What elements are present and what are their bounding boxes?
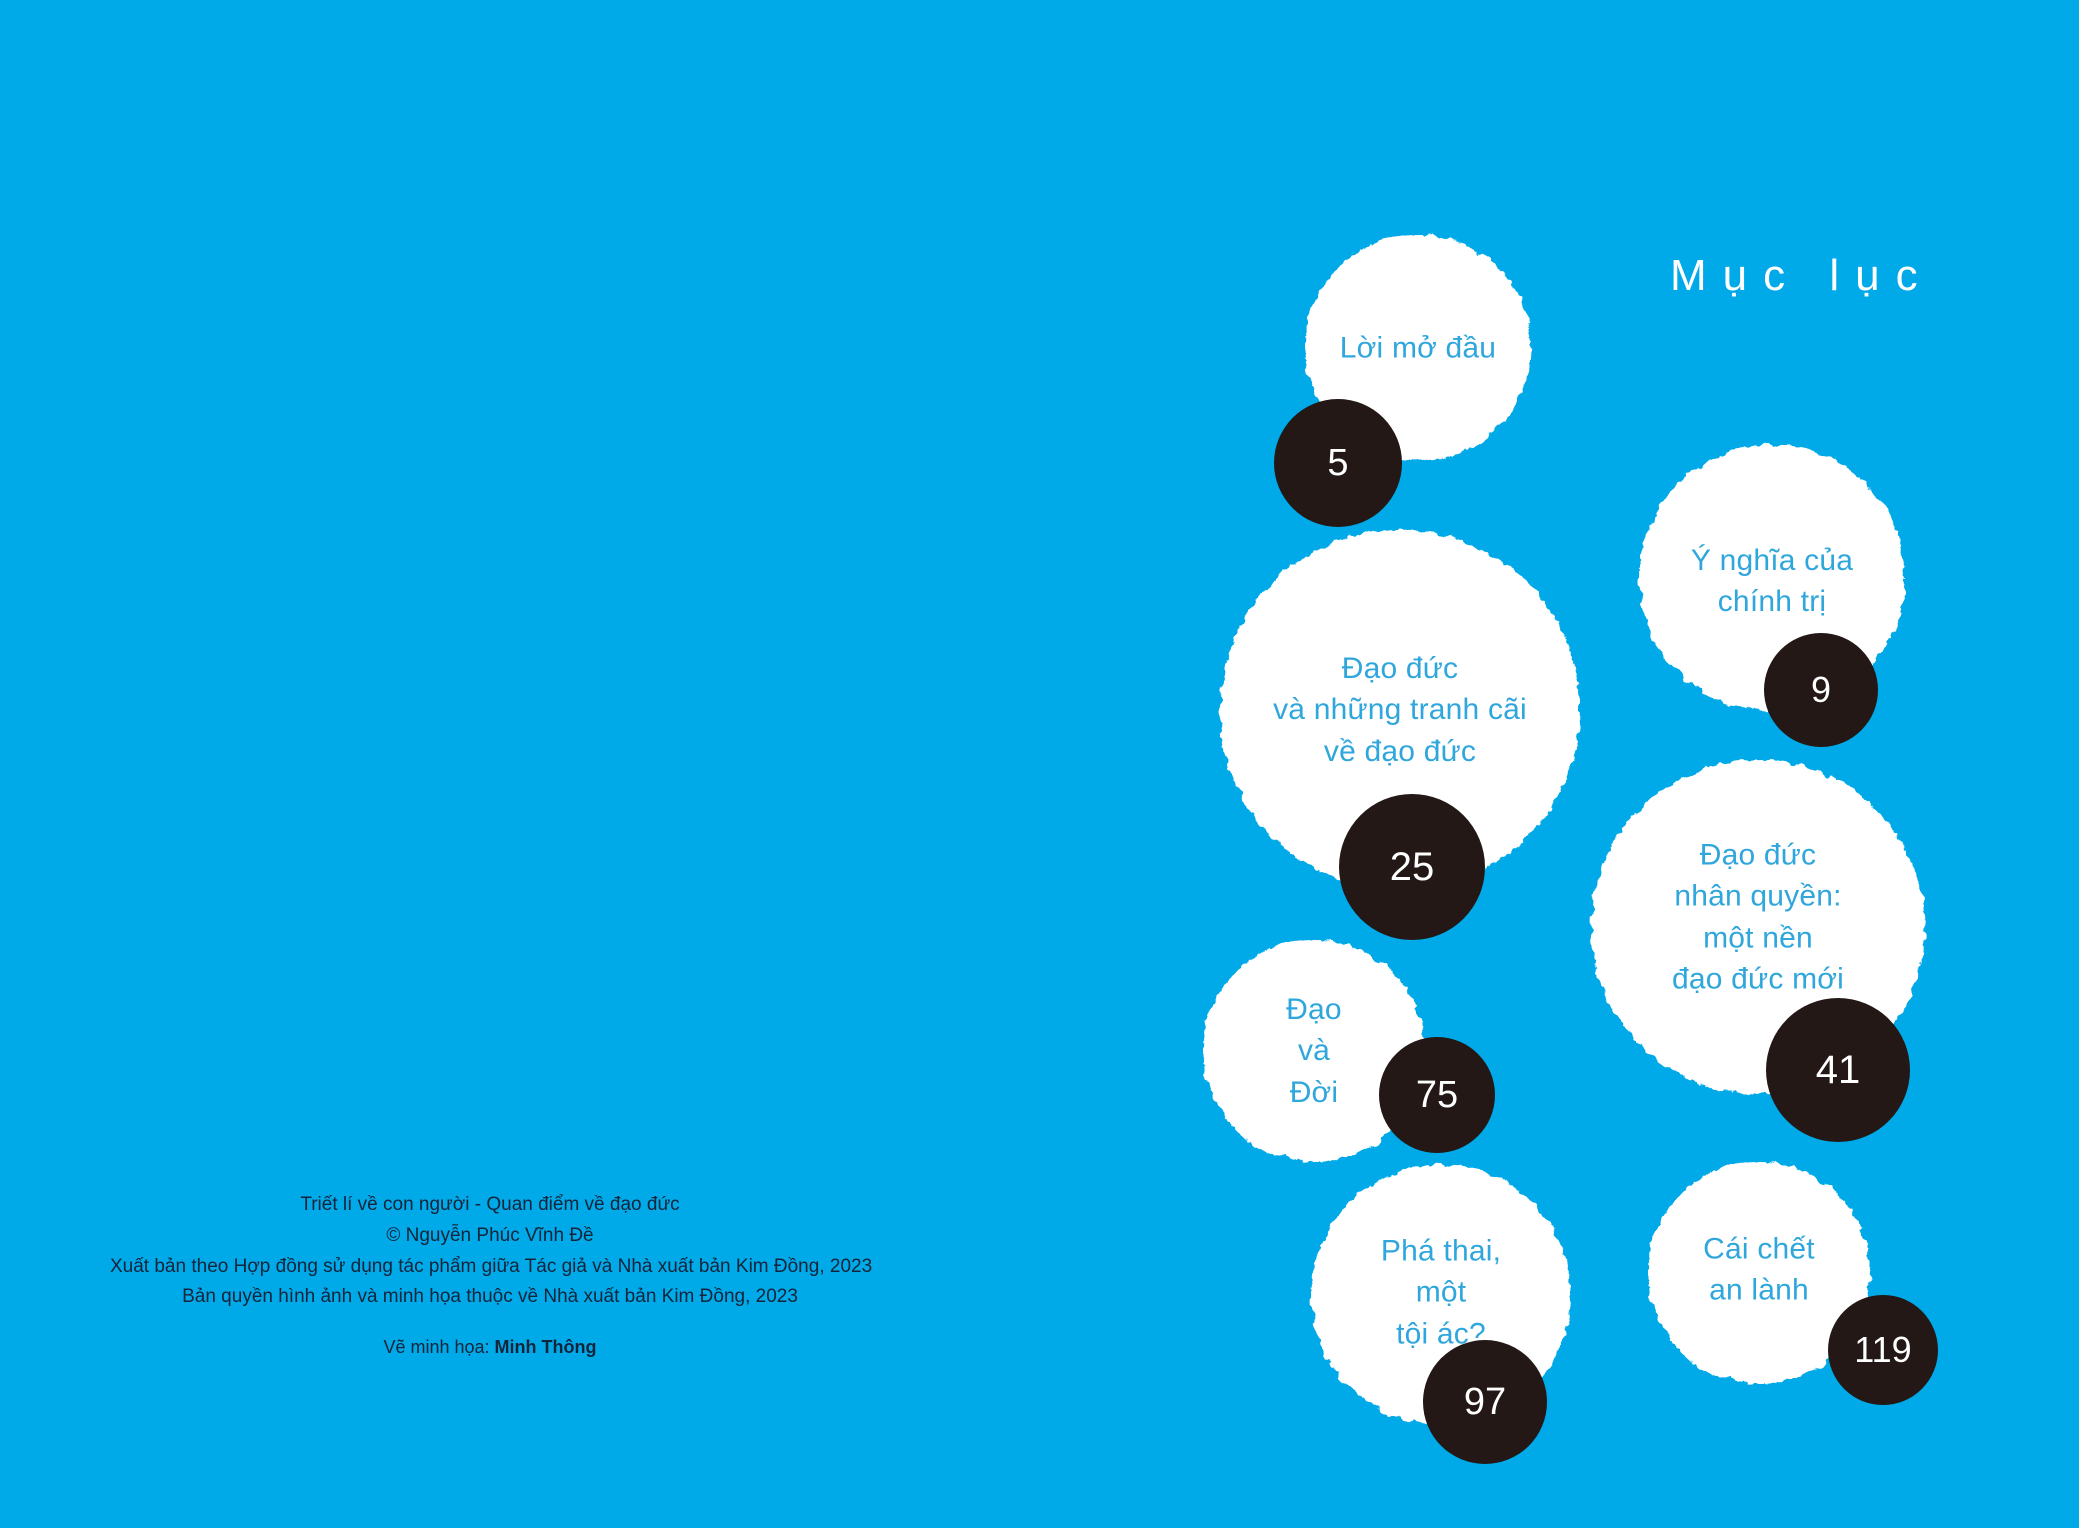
page-number-text: 97	[1464, 1381, 1506, 1424]
toc-page: Mục lục Lời mở đầu 5 Ý nghĩa của chính t…	[0, 0, 2079, 1528]
page-number-badge-97[interactable]: 97	[1423, 1340, 1547, 1464]
page-number-badge-9[interactable]: 9	[1764, 633, 1878, 747]
page-number-badge-75[interactable]: 75	[1379, 1037, 1495, 1153]
page-number-text: 25	[1390, 845, 1435, 890]
page-title: Mục lục	[1670, 254, 1934, 298]
colophon-illustrator-credit: Vẽ minh họa: Minh Thông	[110, 1333, 870, 1362]
page-number-badge-119[interactable]: 119	[1828, 1295, 1938, 1405]
page-number-text: 119	[1854, 1329, 1911, 1371]
page-number-badge-25[interactable]: 25	[1339, 794, 1485, 940]
page-number-badge-41[interactable]: 41	[1766, 998, 1910, 1142]
colophon-line-copyright: © Nguyễn Phúc Vĩnh Đề	[110, 1221, 870, 1252]
colophon-line-rights: Bản quyền hình ảnh và minh họa thuộc về …	[110, 1282, 870, 1313]
page-number-text: 41	[1816, 1048, 1861, 1093]
illustrator-credit-label: Vẽ minh họa:	[383, 1337, 494, 1357]
page-number-text: 5	[1327, 442, 1348, 485]
page-number-text: 9	[1811, 669, 1831, 711]
colophon: Triết lí về con người - Quan điểm về đạo…	[110, 1190, 870, 1362]
page-number-text: 75	[1416, 1074, 1458, 1117]
colophon-line-title: Triết lí về con người - Quan điểm về đạo…	[110, 1190, 870, 1221]
illustrator-name: Minh Thông	[495, 1337, 597, 1357]
colophon-line-publisher: Xuất bản theo Hợp đồng sử dụng tác phẩm …	[110, 1252, 870, 1283]
page-number-badge-5[interactable]: 5	[1274, 399, 1402, 527]
